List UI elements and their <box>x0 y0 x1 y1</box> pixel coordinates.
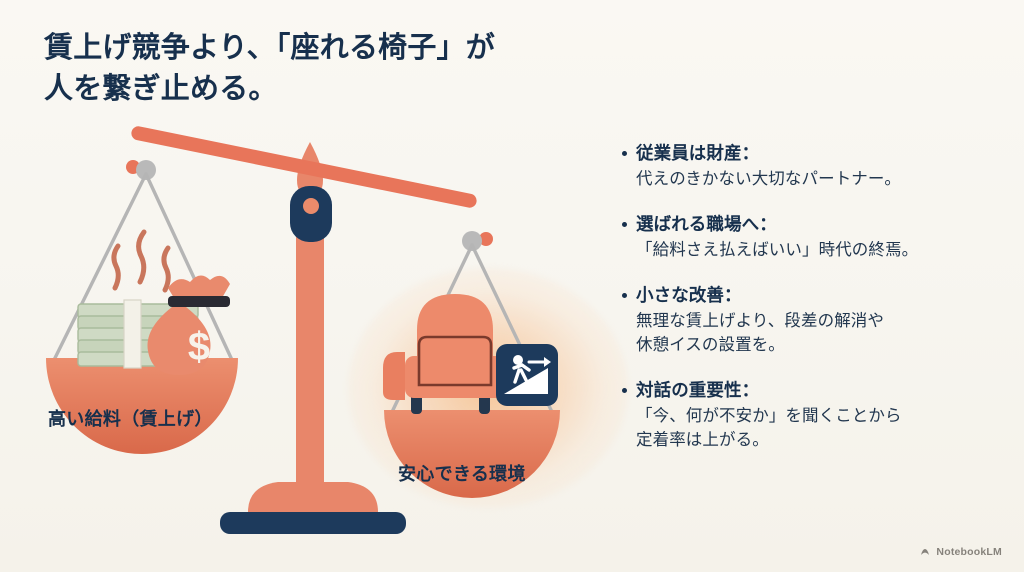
right-pan-caption: 安心できる環境 <box>398 460 526 486</box>
bullet-body-line: 代えのきかない大切なパートナー。 <box>636 168 1008 192</box>
bullet-list: 従業員は財産： 代えのきかない大切なパートナー。 選ばれる職場へ： 「給料さえ払… <box>622 142 1008 453</box>
notebooklm-logo-icon <box>919 546 931 558</box>
accessible-ramp-sign-icon <box>496 344 558 406</box>
bullet-item: 従業員は財産： 代えのきかない大切なパートナー。 <box>622 142 1008 192</box>
bullet-body: 代えのきかない大切なパートナー。 <box>636 168 1008 192</box>
bullet-heading: 対話の重要性： <box>636 379 759 402</box>
bullet-body-line: 無理な賃上げより、段差の解消や <box>636 310 1008 334</box>
title-line-2: 人を繋ぎ止める。 <box>44 69 564 110</box>
bullet-heading-row: 小さな改善： <box>622 284 1008 307</box>
bullet-body-line: 定着率は上がる。 <box>636 429 1008 453</box>
bullet-dot-icon <box>622 293 627 298</box>
bullet-dot-icon <box>622 222 627 227</box>
bullet-body: 「今、何が不安か」を聞くことから 定着率は上がる。 <box>636 405 1008 453</box>
bullet-body-line: 「給料さえ払えばいい」時代の終焉。 <box>636 239 1008 263</box>
page-title: 賃上げ競争より、「座れる椅子」が 人を繋ぎ止める。 <box>44 28 564 110</box>
bullet-body-line: 「今、何が不安か」を聞くことから <box>636 405 1008 429</box>
watermark-label: NotebookLM <box>936 546 1002 558</box>
bullet-heading: 従業員は財産： <box>636 142 759 165</box>
bullet-dot-icon <box>622 388 627 393</box>
bullet-body: 「給料さえ払えばいい」時代の終焉。 <box>636 239 1008 263</box>
bullet-body-line: 休憩イスの設置を。 <box>636 334 1008 358</box>
notebooklm-watermark: NotebookLM <box>919 546 1002 558</box>
bullet-heading-row: 対話の重要性： <box>622 379 1008 402</box>
bullet-heading-row: 従業員は財産： <box>622 142 1008 165</box>
title-line-1: 賃上げ競争より、「座れる椅子」が <box>44 28 564 69</box>
bullet-item: 小さな改善： 無理な賃上げより、段差の解消や 休憩イスの設置を。 <box>622 284 1008 358</box>
bullet-heading: 小さな改善： <box>636 284 742 307</box>
left-pan-caption: 高い給料（賃上げ） <box>48 405 213 431</box>
bullet-heading-row: 選ばれる職場へ： <box>622 213 1008 236</box>
bullet-item: 選ばれる職場へ： 「給料さえ払えばいい」時代の終焉。 <box>622 213 1008 263</box>
bullet-body: 無理な賃上げより、段差の解消や 休憩イスの設置を。 <box>636 310 1008 358</box>
bullet-dot-icon <box>622 151 627 156</box>
bullet-heading: 選ばれる職場へ： <box>636 213 777 236</box>
bullet-item: 対話の重要性： 「今、何が不安か」を聞くことから 定着率は上がる。 <box>622 379 1008 453</box>
slide-canvas: 賃上げ競争より、「座れる椅子」が 人を繋ぎ止める。 <box>0 0 1024 572</box>
